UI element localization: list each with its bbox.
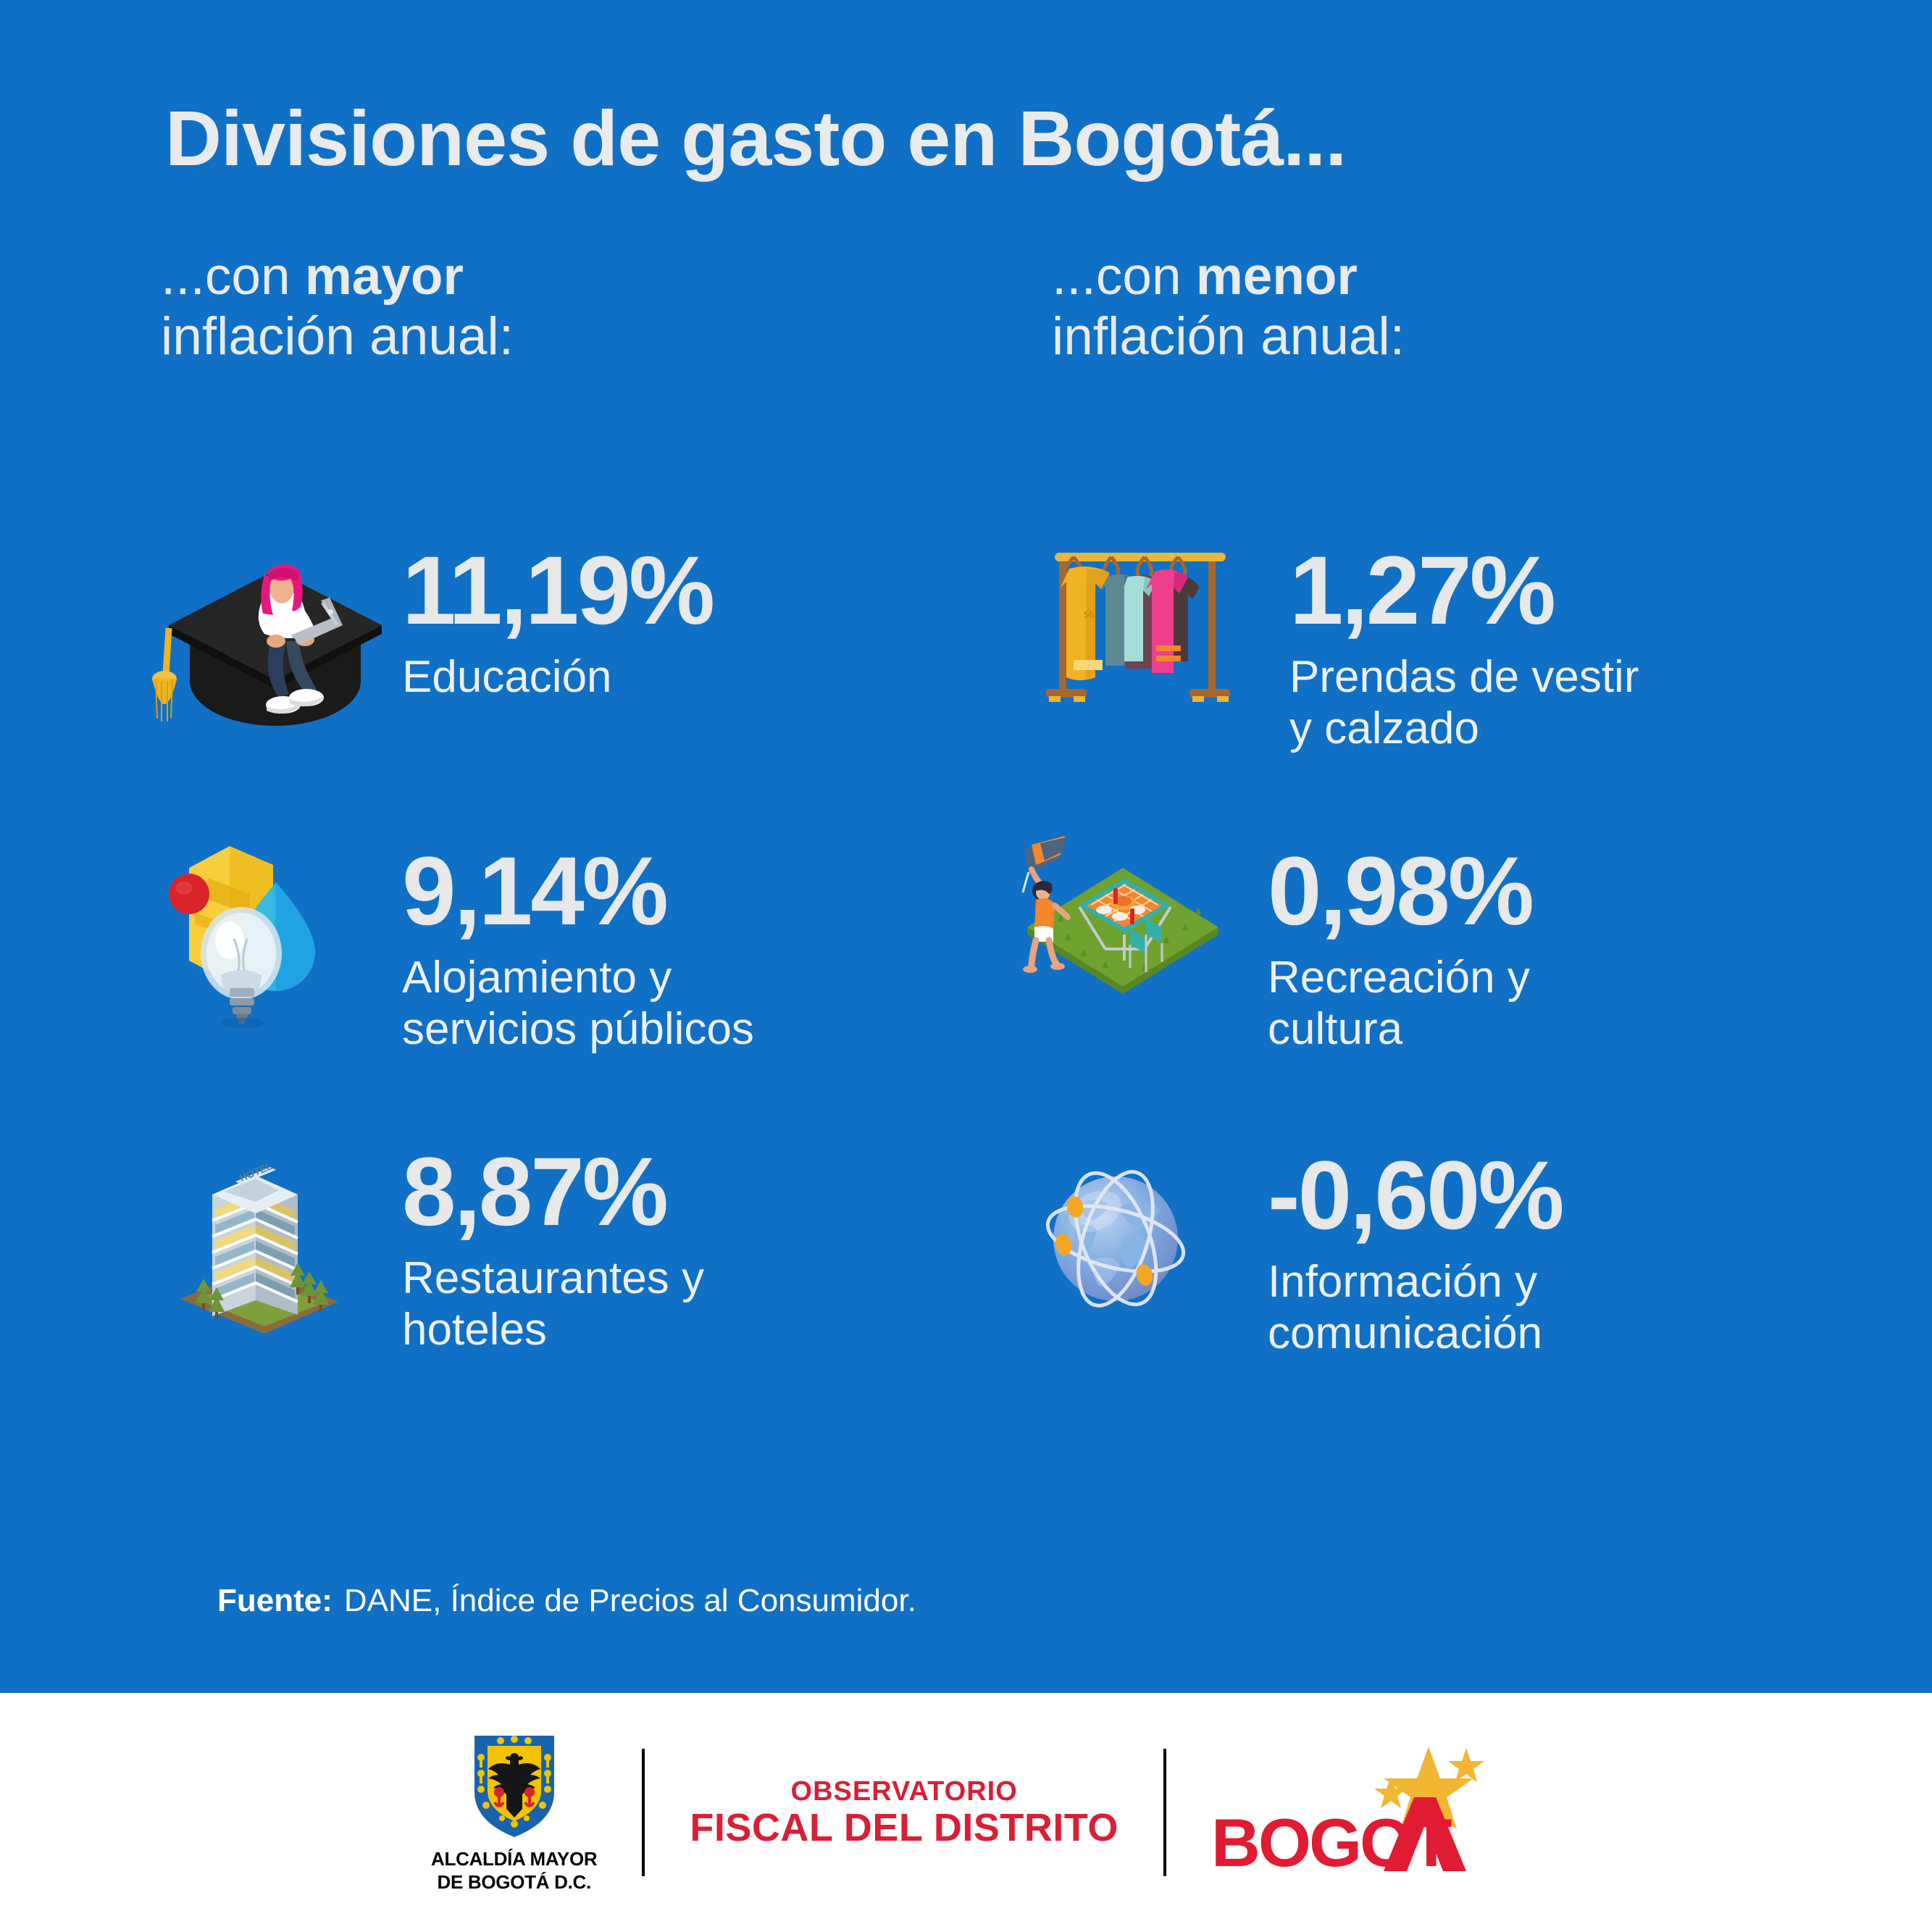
- stat-value: -0,60%: [1268, 1147, 1563, 1245]
- bogota-coat-of-arms-icon: [469, 1731, 560, 1840]
- column-heading-menor: ...con menor inflación anual:: [1052, 246, 1405, 367]
- footer-divider-1: [642, 1749, 645, 1876]
- stat-row-recreacion: 0,98% Recreación y cultura: [1014, 833, 1532, 1055]
- stat-value: 11,19%: [402, 543, 713, 640]
- globe-network-icon: [1014, 1137, 1260, 1340]
- page-title: Divisiones de gasto en Bogotá...: [165, 93, 1346, 183]
- bogota-wordmark: BOGOT: [1211, 1809, 1450, 1877]
- stat-row-educacion: 11,19% Educación: [149, 532, 713, 735]
- stat-row-restaurantes: HOTEL: [149, 1134, 704, 1356]
- clothes-rack-icon: 55: [1036, 532, 1282, 735]
- stat-value: 8,87%: [402, 1144, 704, 1241]
- footer-bar: ALCALDÍA MAYOR DE BOGOTÁ D.C. OBSERVATOR…: [0, 1693, 1932, 1932]
- stat-row-alojamiento: 9,14% Alojamiento y servicios públicos: [149, 833, 754, 1055]
- stat-label: Restaurantes y hoteles: [402, 1253, 704, 1356]
- stat-value: 9,14%: [402, 843, 754, 940]
- graduation-cap-student-icon: [149, 532, 395, 735]
- infographic-page: Divisiones de gasto en Bogotá... ...con …: [0, 0, 1932, 1932]
- stat-text-educacion: 11,19% Educación: [402, 532, 713, 703]
- stat-label: Educación: [402, 651, 713, 703]
- stat-text-recreacion: 0,98% Recreación y cultura: [1268, 833, 1532, 1055]
- alcaldia-logo: ALCALDÍA MAYOR DE BOGOTÁ D.C.: [431, 1731, 597, 1894]
- stat-row-prendas: 55 1,27% Prendas de vestir y calzado: [1036, 532, 1639, 755]
- observatorio-line1: OBSERVATORIO: [690, 1777, 1118, 1807]
- svg-text:55: 55: [1084, 609, 1094, 620]
- stat-label: Información y comunicación: [1268, 1256, 1563, 1360]
- column-heading-mayor: ...con mayor inflación anual:: [161, 246, 514, 367]
- observatorio-line2: FISCAL DEL DISTRITO: [690, 1807, 1118, 1849]
- hotel-building-icon: HOTEL: [149, 1134, 395, 1337]
- bogota-logo: BOGOT: [1211, 1744, 1501, 1881]
- stat-label: Prendas de vestir y calzado: [1289, 651, 1639, 755]
- heading-line2-left: inflación anual:: [161, 306, 514, 367]
- stat-label: Alojamiento y servicios públicos: [402, 952, 754, 1055]
- stat-row-informacion: -0,60% Información y comunicación: [1014, 1137, 1563, 1360]
- stat-value: 1,27%: [1289, 543, 1639, 640]
- stat-text-informacion: -0,60% Información y comunicación: [1268, 1137, 1563, 1360]
- stat-label: Recreación y cultura: [1268, 952, 1532, 1055]
- heading-bold-left: mayor: [305, 247, 464, 306]
- heading-prefix-left: ...con: [161, 247, 305, 306]
- stat-text-restaurantes: 8,87% Restaurantes y hoteles: [402, 1134, 704, 1356]
- source-label: Fuente:: [217, 1583, 333, 1618]
- footer-divider-2: [1163, 1749, 1166, 1876]
- alcaldia-label: ALCALDÍA MAYOR DE BOGOTÁ D.C.: [431, 1847, 597, 1894]
- heading-bold-right: menor: [1196, 247, 1358, 306]
- stat-value: 0,98%: [1268, 843, 1532, 940]
- heading-prefix-right: ...con: [1052, 247, 1196, 306]
- stat-text-alojamiento: 9,14% Alojamiento y servicios públicos: [402, 833, 754, 1055]
- stat-text-prendas: 1,27% Prendas de vestir y calzado: [1289, 532, 1639, 755]
- picnic-park-icon: [1014, 833, 1260, 1036]
- observatorio-logo: OBSERVATORIO FISCAL DEL DISTRITO: [690, 1777, 1118, 1848]
- source-note: Fuente:DANE, Índice de Precios al Consum…: [217, 1583, 916, 1619]
- heading-line2-right: inflación anual:: [1052, 306, 1405, 367]
- lightbulb-water-drop-icon: [149, 833, 395, 1036]
- source-value: DANE, Índice de Precios al Consumidor.: [344, 1583, 916, 1618]
